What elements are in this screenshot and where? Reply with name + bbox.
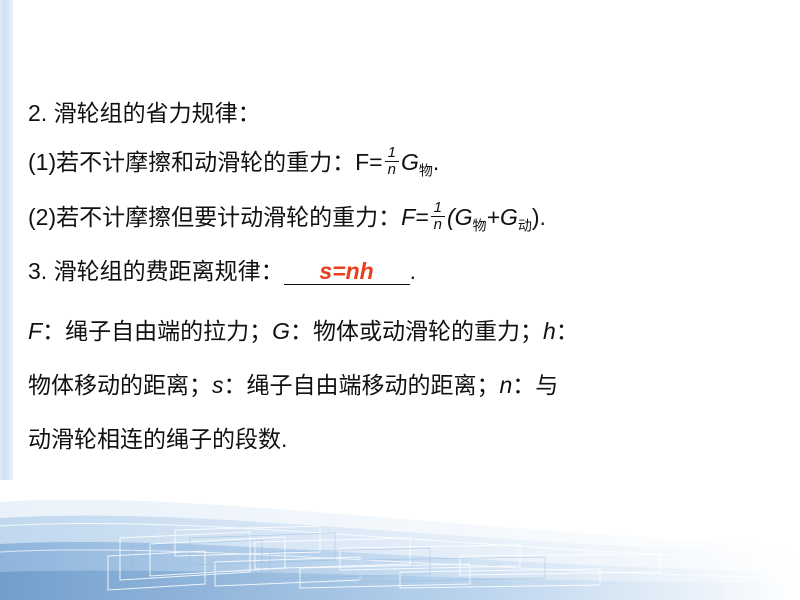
line-3-part-a: (2)若不计摩擦但要计动滑轮的重力： [28, 204, 401, 230]
text-line-2: (1)若不计摩擦和动滑轮的重力：F=1nG物. [28, 148, 439, 181]
line-3-subscript-dong: 动 [518, 218, 532, 234]
line-2-symbol-g: G [401, 149, 419, 175]
answer-blank: s=nh [284, 258, 410, 285]
fraction-denominator: n [385, 161, 399, 178]
line-6-part-a: 物体移动的距离； [28, 372, 212, 398]
symbol-n: n [500, 372, 513, 398]
line-4-part-a: 3. 滑轮组的费距离规律： [28, 258, 284, 284]
text-line-6: 物体移动的距离；s：绳子自由端移动的距离；n：与 [28, 372, 558, 398]
line-2-subscript-wu: 物 [419, 163, 433, 179]
line-3-close: ). [532, 204, 546, 230]
line-5-part-b: ：物体或动滑轮的重力； [290, 318, 543, 344]
decorative-swoosh-graphic [0, 480, 800, 600]
line-7-text: 动滑轮相连的绳子的段数. [28, 426, 287, 452]
line-5-part-c: ： [556, 318, 579, 344]
slide-canvas: 2. 滑轮组的省力规律： (1)若不计摩擦和动滑轮的重力：F=1nG物. (2)… [0, 0, 800, 600]
line-4-period: . [410, 258, 416, 284]
line-1-text: 2. 滑轮组的省力规律： [28, 100, 261, 126]
line-6-part-b: ：绳子自由端移动的距离； [224, 372, 500, 398]
text-line-1: 2. 滑轮组的省力规律： [28, 100, 261, 126]
text-line-4: 3. 滑轮组的费距离规律：s=nh. [28, 258, 416, 285]
bottom-decoration [0, 480, 800, 600]
symbol-g: G [272, 318, 290, 344]
fraction-one-over-n-2: 1n [431, 200, 445, 233]
fraction-denominator: n [431, 216, 445, 233]
symbol-h: h [543, 318, 556, 344]
answer-text: s=nh [319, 258, 373, 284]
line-6-part-c: ：与 [512, 372, 558, 398]
fraction-numerator: 1 [385, 145, 399, 161]
line-2-part-a: (1)若不计摩擦和动滑轮的重力：F= [28, 149, 383, 175]
line-3-plus-g: +G [487, 204, 518, 230]
line-3-subscript-wu: 物 [473, 218, 487, 234]
fraction-one-over-n-1: 1n [385, 145, 399, 178]
line-2-period: . [433, 149, 439, 175]
symbol-s: s [212, 372, 224, 398]
symbol-f: F [28, 318, 42, 344]
text-line-7: 动滑轮相连的绳子的段数. [28, 426, 287, 452]
slide-content: 2. 滑轮组的省力规律： (1)若不计摩擦和动滑轮的重力：F=1nG物. (2)… [0, 0, 800, 480]
line-3-open-paren-g: (G [447, 204, 473, 230]
text-line-3: (2)若不计摩擦但要计动滑轮的重力：F=1n(G物+G动). [28, 203, 546, 236]
line-3-symbol-f: F= [401, 204, 428, 230]
fraction-numerator: 1 [431, 200, 445, 216]
line-5-part-a: ：绳子自由端的拉力； [42, 318, 272, 344]
text-line-5: F：绳子自由端的拉力；G：物体或动滑轮的重力；h： [28, 318, 579, 344]
